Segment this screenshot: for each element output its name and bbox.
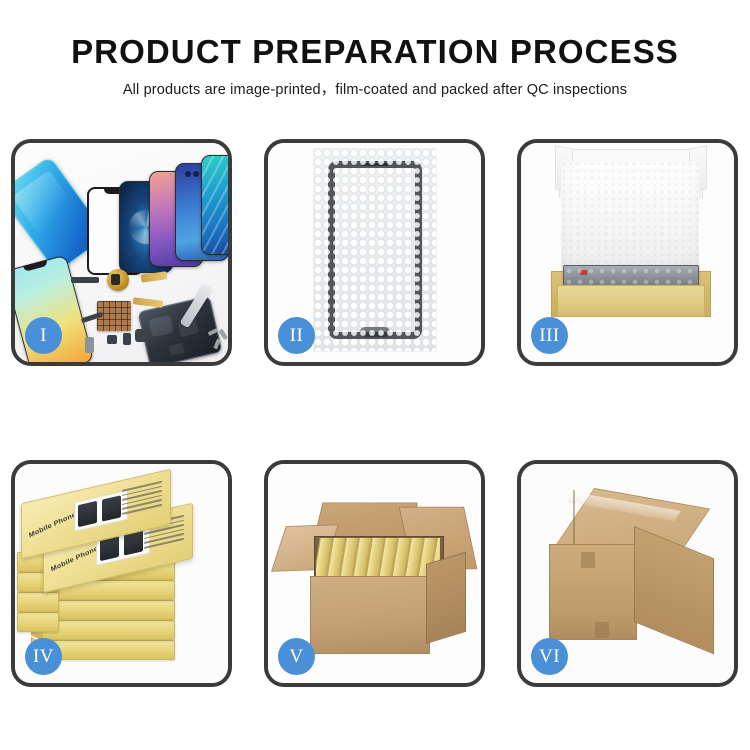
process-step-panel-4: Mobile Phone Spare Parts Mobile Phone Sp… — [11, 460, 232, 687]
part-button-2 — [123, 333, 131, 345]
step-badge-4: IV — [25, 638, 62, 675]
process-step-panel-3: III — [517, 139, 738, 366]
header: PRODUCT PREPARATION PROCESS All products… — [0, 32, 750, 100]
process-step-panel-6: VI — [517, 460, 738, 687]
preparation-process-page: PRODUCT PREPARATION PROCESS All products… — [0, 0, 750, 750]
process-step-panel-5: V — [264, 460, 485, 687]
step-badge-1: I — [25, 317, 62, 354]
flex-cable-2 — [133, 297, 164, 308]
page-subtitle: All products are image-printed，film-coat… — [0, 81, 750, 100]
step-badge-3: III — [531, 317, 568, 354]
page-title: PRODUCT PREPARATION PROCESS — [0, 32, 750, 72]
kraft-box-front — [557, 285, 705, 317]
step-badge-6: VI — [531, 638, 568, 675]
carton-tab-top — [581, 552, 595, 568]
qc-sticker — [580, 270, 587, 275]
process-step-panel-1: I — [11, 139, 232, 366]
thumb-front — [78, 501, 97, 527]
step-badge-2: II — [278, 317, 315, 354]
stacked-box-bottom-3 — [41, 600, 175, 620]
process-step-panel-2: II — [264, 139, 485, 366]
box-spec-lines-upper — [122, 481, 162, 520]
carton-tab-bottom — [595, 622, 609, 638]
part-strip-1 — [71, 277, 99, 283]
thumb-back — [102, 495, 121, 521]
stacked-box-left-3 — [17, 592, 59, 612]
part-camera-module — [135, 329, 148, 342]
speaker-module-part — [107, 269, 129, 291]
part-sim-tray — [85, 337, 94, 353]
stacked-box-left-4 — [17, 612, 59, 632]
step-badge-5: V — [278, 638, 315, 675]
part-button-1 — [107, 335, 117, 344]
carton-right-face — [634, 526, 714, 654]
foam-padding — [561, 161, 699, 267]
screen-assembly — [328, 161, 422, 339]
process-step-grid: I II — [11, 139, 739, 687]
stacked-box-bottom-4 — [41, 620, 175, 640]
screw-2 — [219, 329, 228, 340]
carton-side-face — [426, 552, 466, 644]
carton-front-face — [310, 576, 430, 654]
carton-top-seam — [573, 490, 575, 550]
bubble-wrap-sheet — [314, 149, 436, 351]
phone-teal — [201, 155, 228, 255]
box-artwork-thumbnails-upper — [74, 490, 128, 532]
